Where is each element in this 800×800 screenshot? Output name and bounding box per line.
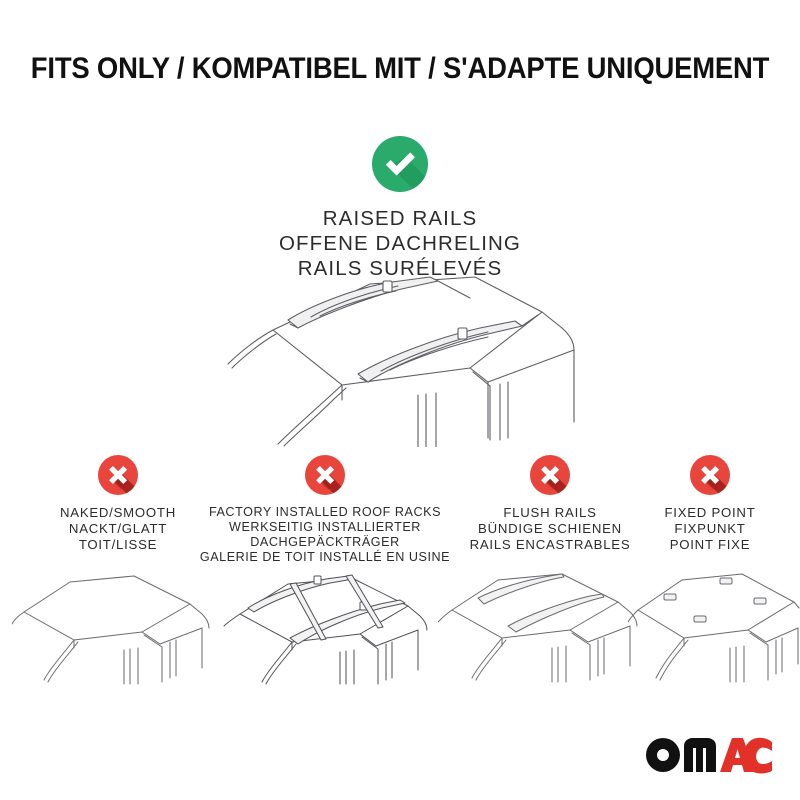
incompatible-labels: NAKED/SMOOTH NACKT/GLATT TOIT/LISSE [38,505,198,553]
incompatible-label-en: FACTORY INSTALLED ROOF RACKS [190,505,460,520]
compatible-label-de: OFFENE DACHRELING [0,231,800,256]
x-circle-icon [690,455,730,495]
incompatible-item-flush-rails: FLUSH RAILS BÜNDIGE SCHIENEN RAILS ENCAS… [455,455,645,553]
car-roof-fixed-point-illustration [628,556,800,686]
incompatible-labels: FIXED POINT FIXPUNKT POINT FIXE [632,505,788,553]
page-title: FITS ONLY / KOMPATIBEL MIT / S'ADAPTE UN… [28,52,772,86]
x-circle-icon [98,455,138,495]
incompatible-label-fr: TOIT/LISSE [38,537,198,553]
car-roof-factory-racks-illustration [218,556,433,686]
car-roof-flush-rails-illustration [438,556,638,686]
car-roof-raised-rails-illustration [170,272,640,447]
incompatible-item-factory-installed-roof-racks: FACTORY INSTALLED ROOF RACKS WERKSEITIG … [190,455,460,565]
incompatible-label-de: BÜNDIGE SCHIENEN [455,521,645,537]
compatible-labels: RAISED RAILS OFFENE DACHRELING RAILS SUR… [0,206,800,281]
incompatible-label-de-1: WERKSEITIG INSTALLIERTER [190,520,460,535]
incompatible-label-de: NACKT/GLATT [38,521,198,537]
incompatible-label-fr: RAILS ENCASTRABLES [455,537,645,553]
compatible-section: RAISED RAILS OFFENE DACHRELING RAILS SUR… [0,136,800,281]
incompatible-item-naked-smooth: NAKED/SMOOTH NACKT/GLATT TOIT/LISSE [38,455,198,553]
x-circle-icon [305,455,345,495]
car-roof-naked-illustration [12,556,212,686]
incompatible-label-en: FLUSH RAILS [455,505,645,521]
logo-letter-o [646,738,680,772]
x-circle-icon [530,455,570,495]
incompatible-label-de: FIXPUNKT [632,521,788,537]
check-circle-icon [372,136,428,192]
incompatible-item-fixed-point: FIXED POINT FIXPUNKT POINT FIXE [632,455,788,553]
incompatible-label-de-2: DACHGEPÄCKTRÄGER [190,535,460,550]
omac-logo [644,734,772,776]
incompatible-labels: FLUSH RAILS BÜNDIGE SCHIENEN RAILS ENCAS… [455,505,645,553]
compatible-label-en: RAISED RAILS [0,206,800,231]
logo-letter-m [684,738,716,772]
incompatible-label-en: NAKED/SMOOTH [38,505,198,521]
incompatible-label-fr: POINT FIXE [632,537,788,553]
incompatible-label-en: FIXED POINT [632,505,788,521]
